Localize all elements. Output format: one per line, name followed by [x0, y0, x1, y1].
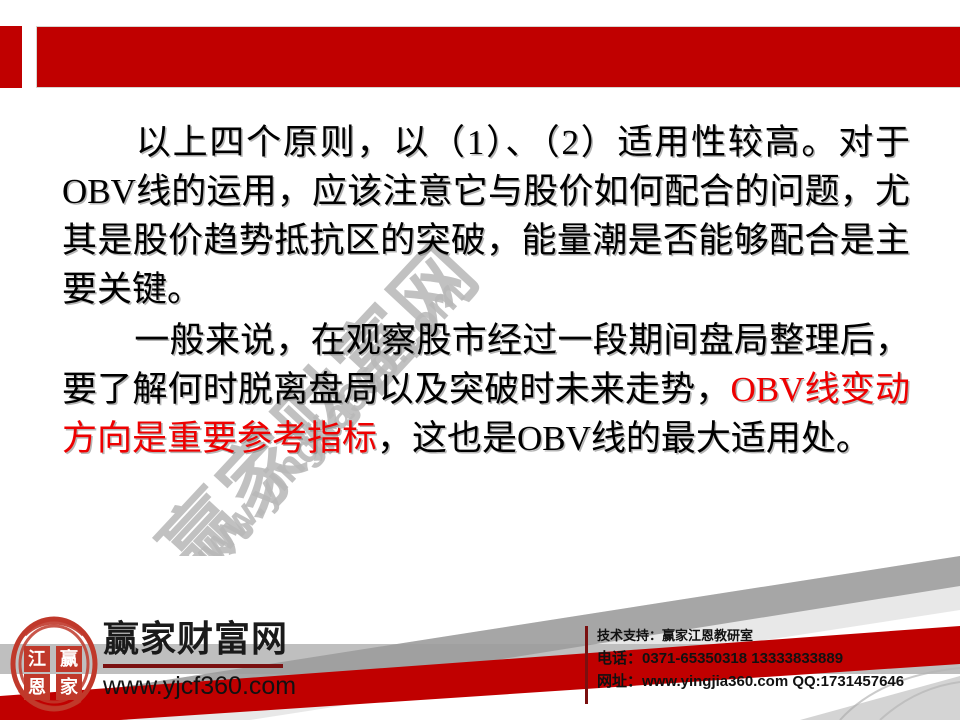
brand-block: 赢家财富网 www.yjcf360.com: [103, 618, 353, 701]
contact-site-label: 网址：: [597, 673, 642, 690]
footer-vertical-divider: [585, 626, 588, 704]
presentation-slide: 赢家财富网 www.yingjia360.com 以上四个原则，以（1）、（2）…: [0, 0, 960, 720]
seal-char-1: 江: [24, 646, 50, 672]
contact-support-line: 技术支持：赢家江恩教研室: [597, 624, 957, 647]
paragraph-1: 以上四个原则，以（1）、（2）适用性较高。对于OBV线的运用，应该注意它与股价如…: [62, 118, 910, 314]
slide-header-band: [0, 26, 960, 88]
seal-char-4: 家: [56, 674, 82, 700]
seal-char-3: 恩: [24, 674, 50, 700]
slide-title: [52, 38, 932, 78]
contact-phone-value: 0371-65350318 13333833889: [642, 650, 843, 667]
logo-seal: 江 赢 恩 家: [10, 616, 98, 712]
slide-footer: 江 赢 恩 家 赢家财富网 www.yjcf360.com 技术支持：赢家江恩教…: [0, 556, 960, 720]
contact-site-line: 网址：www.yingjia360.com QQ:1731457646: [597, 670, 957, 693]
paragraph-1-run-1: 以上四个原则，以（1）、（2）适用性较高。对于OBV线的运用，应该注意它与股价如…: [62, 123, 910, 309]
brand-url[interactable]: www.yjcf360.com: [103, 671, 353, 701]
contact-support-label: 技术支持：: [597, 628, 662, 643]
contact-site-value[interactable]: www.yingjia360.com QQ:1731457646: [642, 673, 904, 690]
slide-body-text: 以上四个原则，以（1）、（2）适用性较高。对于OBV线的运用，应该注意它与股价如…: [62, 118, 910, 465]
paragraph-2: 一般来说，在观察股市经过一段期间盘局整理后，要了解何时脱离盘局以及突破时未来走势…: [62, 316, 910, 463]
seal-char-2: 赢: [56, 646, 82, 672]
contact-phone-line: 电话：0371-65350318 13333833889: [597, 647, 957, 670]
contact-block: 技术支持：赢家江恩教研室 电话：0371-65350318 1333383388…: [597, 624, 957, 693]
header-accent-block: [0, 26, 22, 88]
contact-support-value: 赢家江恩教研室: [662, 628, 753, 643]
paragraph-2-run-3: ，这也是OBV线的最大适用处。: [377, 419, 871, 458]
brand-underline: [103, 664, 283, 668]
brand-name: 赢家财富网: [103, 618, 353, 660]
contact-phone-label: 电话：: [597, 650, 642, 667]
